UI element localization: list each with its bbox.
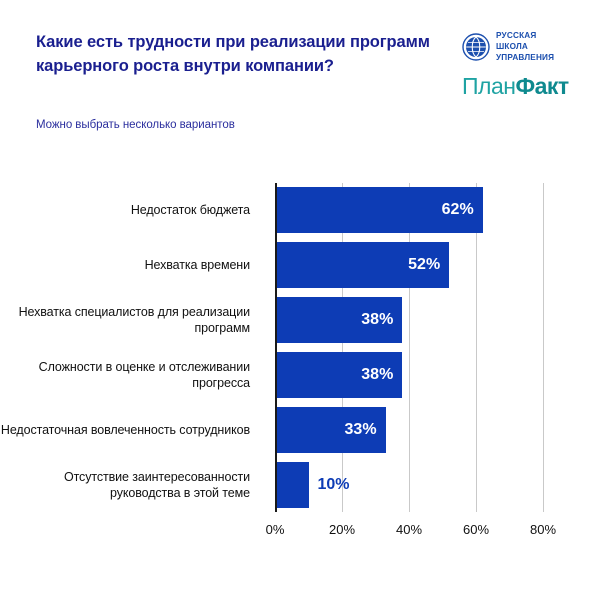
category-label: Недостаток бюджета: [0, 183, 263, 238]
bar-row: 52%: [275, 238, 543, 293]
bar-row: 38%: [275, 347, 543, 402]
bar[interactable]: [275, 462, 309, 508]
rsu-line-1: РУССКАЯ: [496, 31, 536, 40]
bar-row: 33%: [275, 402, 543, 457]
plot-area: 62% 52% 38% 38% 33%: [275, 183, 543, 512]
category-axis-labels: Недостаток бюджета Нехватка времени Нехв…: [0, 183, 263, 512]
bar-rows: 62% 52% 38% 38% 33%: [275, 183, 543, 512]
category-label: Недостаточная вовлеченность сотрудников: [0, 402, 263, 457]
bar-value-label: 62%: [442, 201, 483, 219]
planfact-logo: ПланФакт: [462, 75, 590, 98]
logo-block: РУССКАЯ ШКОЛА УПРАВЛЕНИЯ ПланФакт: [462, 30, 590, 98]
gridline: [543, 183, 544, 512]
header: Какие есть трудности при реализации прог…: [0, 0, 600, 160]
bar-value-label: 52%: [408, 256, 449, 274]
bar[interactable]: 38%: [275, 297, 402, 343]
page-subtitle: Можно выбрать несколько вариантов: [36, 119, 235, 131]
bar-row: 38%: [275, 293, 543, 348]
x-axis-tick: 40%: [396, 522, 422, 537]
category-label: Нехватка времени: [0, 238, 263, 293]
bar[interactable]: 38%: [275, 352, 402, 398]
rsu-line-2: ШКОЛА: [496, 42, 528, 51]
bar-row: 62%: [275, 183, 543, 238]
x-axis-tick: 20%: [329, 522, 355, 537]
rsu-line-3: УПРАВЛЕНИЯ: [496, 53, 554, 62]
rsu-logo-text: РУССКАЯ ШКОЛА УПРАВЛЕНИЯ: [496, 30, 554, 63]
bar-value-label: 33%: [345, 421, 386, 439]
rsu-logo: РУССКАЯ ШКОЛА УПРАВЛЕНИЯ: [462, 30, 590, 63]
value-axis-labels: 0% 20% 40% 60% 80%: [275, 512, 543, 542]
category-label: Нехватка специалистов для реализации про…: [0, 293, 263, 348]
category-label: Отсутствие заинтересованности руководств…: [0, 457, 263, 512]
bar-value-label: 38%: [361, 366, 402, 384]
x-axis-tick: 0%: [266, 522, 285, 537]
value-axis-line: [275, 183, 277, 512]
category-label: Сложности в оценке и отслеживании прогре…: [0, 347, 263, 402]
bar[interactable]: 52%: [275, 242, 449, 288]
bar[interactable]: 33%: [275, 407, 386, 453]
x-axis-tick: 60%: [463, 522, 489, 537]
bar-chart: Недостаток бюджета Нехватка времени Нехв…: [0, 160, 600, 600]
bar-row: 10%: [275, 457, 543, 512]
bar[interactable]: 62%: [275, 187, 483, 233]
bar-value-label: 10%: [318, 476, 350, 494]
bar-value-label: 38%: [361, 311, 402, 329]
planfact-logo-fakt: Факт: [515, 73, 568, 99]
globe-icon: [462, 33, 490, 61]
x-axis-tick: 80%: [530, 522, 556, 537]
page-title: Какие есть трудности при реализации прог…: [36, 30, 436, 79]
planfact-logo-plan: План: [462, 73, 515, 99]
